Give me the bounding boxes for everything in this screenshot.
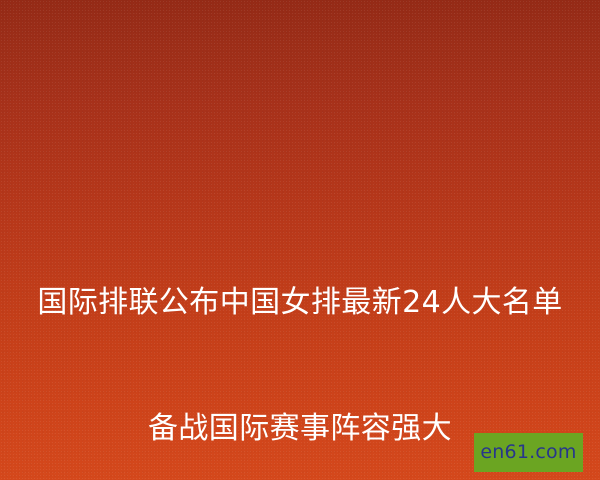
watermark-label: en61.com [480,443,576,462]
headline-line-1: 国际排联公布中国女排最新24人大名单 [0,282,600,324]
banner-image: 国际排联公布中国女排最新24人大名单 备战国际赛事阵容强大 en61.com [0,0,600,480]
watermark-badge[interactable]: en61.com [474,433,583,472]
